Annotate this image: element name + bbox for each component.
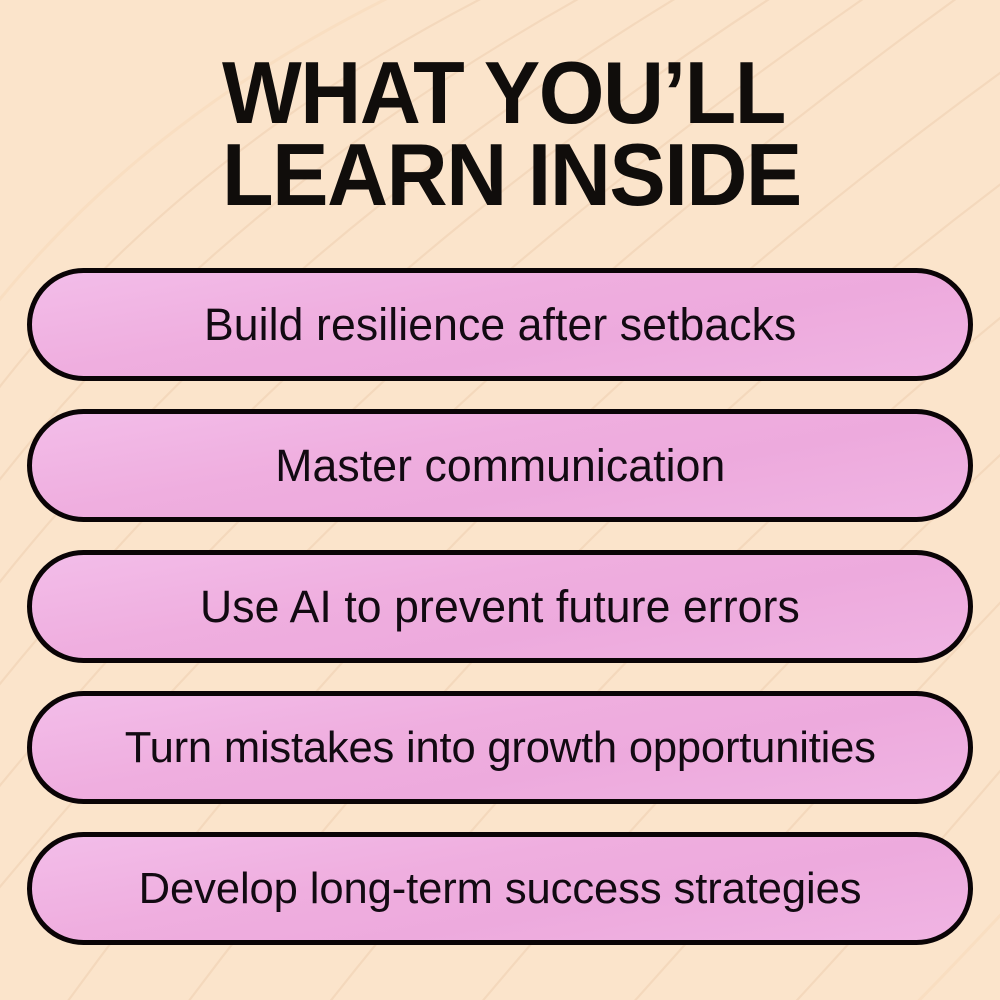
list-item-label: Build resilience after setbacks <box>204 302 796 347</box>
list-item[interactable]: Develop long-term success strategies <box>27 832 973 945</box>
list-item-label: Master communication <box>275 443 725 488</box>
poster-content: WHAT YOU’LL LEARN INSIDE Build resilienc… <box>0 0 1000 1000</box>
learn-inside-list: Build resilience after setbacks Master c… <box>27 268 973 945</box>
page-title: WHAT YOU’LL LEARN INSIDE <box>222 52 894 216</box>
list-item[interactable]: Master communication <box>27 409 973 522</box>
poster-canvas: WHAT YOU’LL LEARN INSIDE Build resilienc… <box>0 0 1000 1000</box>
list-item-label: Develop long-term success strategies <box>139 867 862 911</box>
list-item[interactable]: Build resilience after setbacks <box>27 268 973 381</box>
list-item-label: Turn mistakes into growth opportunities <box>125 726 876 770</box>
list-item-label: Use AI to prevent future errors <box>200 584 800 629</box>
list-item[interactable]: Turn mistakes into growth opportunities <box>27 691 973 804</box>
list-item[interactable]: Use AI to prevent future errors <box>27 550 973 663</box>
